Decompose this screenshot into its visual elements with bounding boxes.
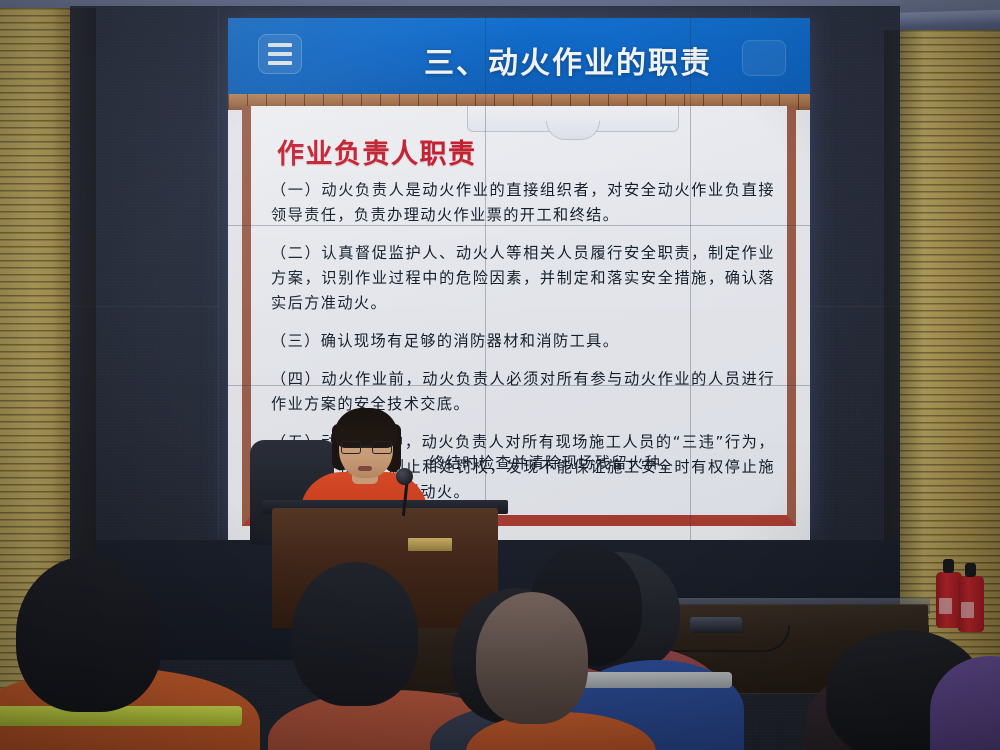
slide-paragraph: （四）动火作业前，动火负责人必须对所有参与动火作业的人员进行作业方案的安全技术交…: [269, 367, 775, 417]
slide-paragraph: （二）认真督促监护人、动火人等相关人员履行安全职责，制定作业方案，识别作业过程中…: [269, 241, 775, 316]
slide-scroll-notch: [467, 106, 679, 132]
conference-room-scene: 三、动火作业的职责 作业负责人职责 （一）动火负责人是动火作业的直接组织者，对安…: [0, 0, 1000, 750]
presenter-mouth: [358, 466, 372, 471]
presentation-title: 三、动火作业的职责: [388, 32, 748, 88]
attendee-jacket-stripe: [582, 672, 732, 688]
attendee-vest-stripe: [0, 706, 242, 726]
wall-panel-seam: [218, 6, 219, 566]
slide-header-bar: 三、动火作业的职责: [228, 18, 810, 94]
header-right-button[interactable]: [742, 40, 786, 76]
glasses-icon: [341, 441, 392, 454]
attendee-head: [292, 562, 418, 706]
attendee-head: [16, 556, 162, 712]
hamburger-menu-icon[interactable]: [258, 34, 302, 74]
slide-heading: 作业负责人职责: [277, 132, 477, 171]
slide-paragraph: （一）动火负责人是动火作业的直接组织者，对安全动火作业负直接领导责任，负责办理动…: [269, 178, 775, 228]
attendee-head: [476, 592, 588, 724]
microphone-icon: [396, 468, 413, 485]
slide-paragraph: （三）确认现场有足够的消防器材和消防工具。: [269, 329, 775, 354]
podium-nameplate: [408, 538, 452, 551]
fire-extinguisher-icon: [958, 576, 984, 632]
slide-tail-line: 终结时检查并清除现场残留火种。: [429, 451, 678, 473]
